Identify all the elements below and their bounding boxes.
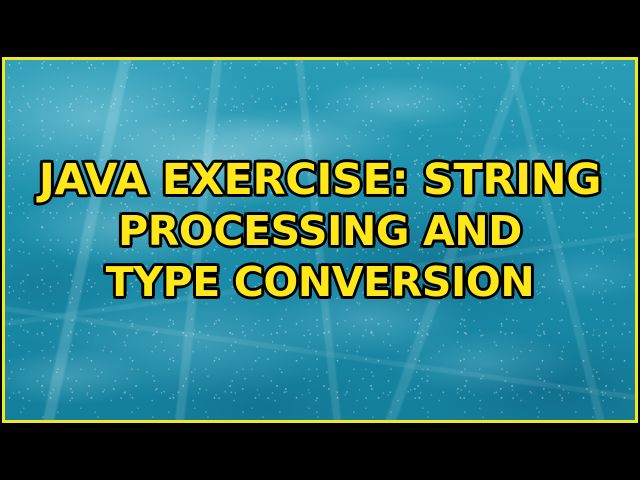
thumbnail-title: JAVA EXERCISE: STRING PROCESSING AND TYP… [5,155,635,308]
letterbox-bar-top [0,0,640,57]
video-thumbnail: JAVA EXERCISE: STRING PROCESSING AND TYP… [0,0,640,480]
title-line-2: PROCESSING AND [15,206,625,257]
thumbnail-frame: JAVA EXERCISE: STRING PROCESSING AND TYP… [2,57,638,423]
letterbox-bar-bottom [0,423,640,480]
title-line-3: TYPE CONVERSION [15,257,625,308]
title-line-1: JAVA EXERCISE: STRING [15,155,625,206]
